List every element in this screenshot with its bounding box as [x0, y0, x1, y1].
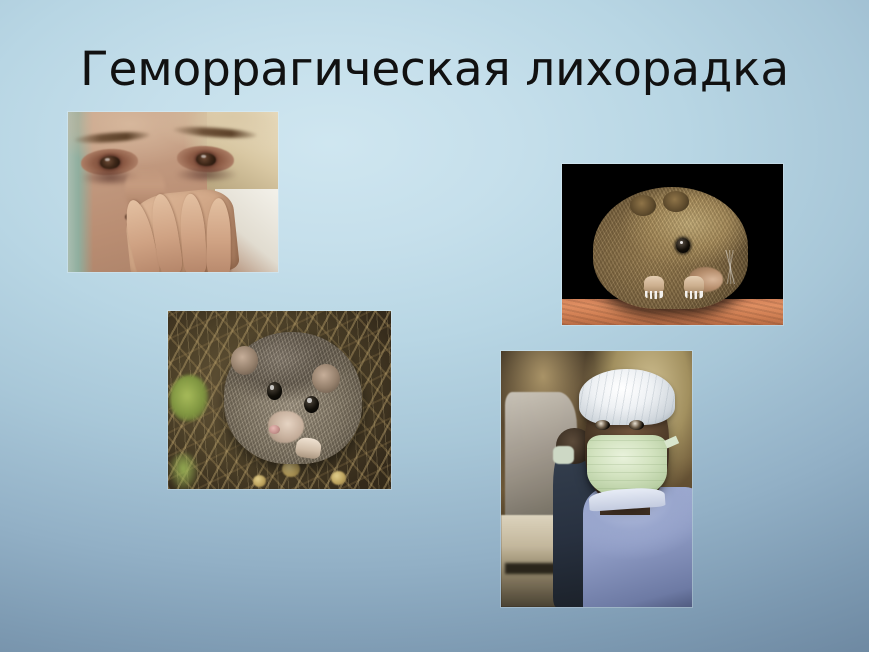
- nest-mouse-eye-left: [267, 382, 282, 399]
- medical-worker-face-mask: [587, 435, 667, 496]
- patient-iris-right: [196, 152, 216, 166]
- mouse-nest-artwork: [168, 311, 391, 489]
- presentation-slide: Геморрагическая лихорадка: [0, 0, 869, 652]
- patient-finger: [178, 193, 208, 272]
- image-rodent-on-hand[interactable]: [562, 164, 783, 325]
- rodent-paw-left: [644, 276, 664, 293]
- patient-iris-left: [100, 155, 120, 169]
- page-title: Геморрагическая лихорадка: [0, 44, 869, 96]
- image-mouse-in-nest[interactable]: [168, 311, 391, 489]
- rodent-ear-right: [663, 191, 689, 212]
- nest-foliage: [168, 453, 199, 489]
- nest-mouse-nose: [269, 425, 280, 434]
- medical-worker-surgical-cap: [579, 369, 675, 425]
- nest-mouse-ear-right: [312, 364, 340, 393]
- medical-worker-artwork: [501, 351, 692, 607]
- patient-finger: [206, 198, 230, 272]
- nest-mouse-body: [224, 332, 362, 464]
- image-patient-face[interactable]: [68, 112, 278, 272]
- nest-mouse-eye-right: [304, 396, 319, 413]
- image-medical-worker[interactable]: [501, 351, 692, 607]
- rodent-paw-right: [684, 276, 704, 293]
- nest-mouse-ear-left: [231, 346, 259, 375]
- patient-eye-shadow-right: [173, 168, 240, 181]
- rodent-black-artwork: [562, 164, 783, 325]
- rodent-whiskers: [704, 250, 757, 284]
- rodent-body: [593, 187, 748, 309]
- medical-second-person-mask: [553, 446, 574, 464]
- patient-face-artwork: [68, 112, 278, 272]
- rodent-eye: [676, 238, 690, 253]
- rodent-ear-left: [630, 195, 656, 216]
